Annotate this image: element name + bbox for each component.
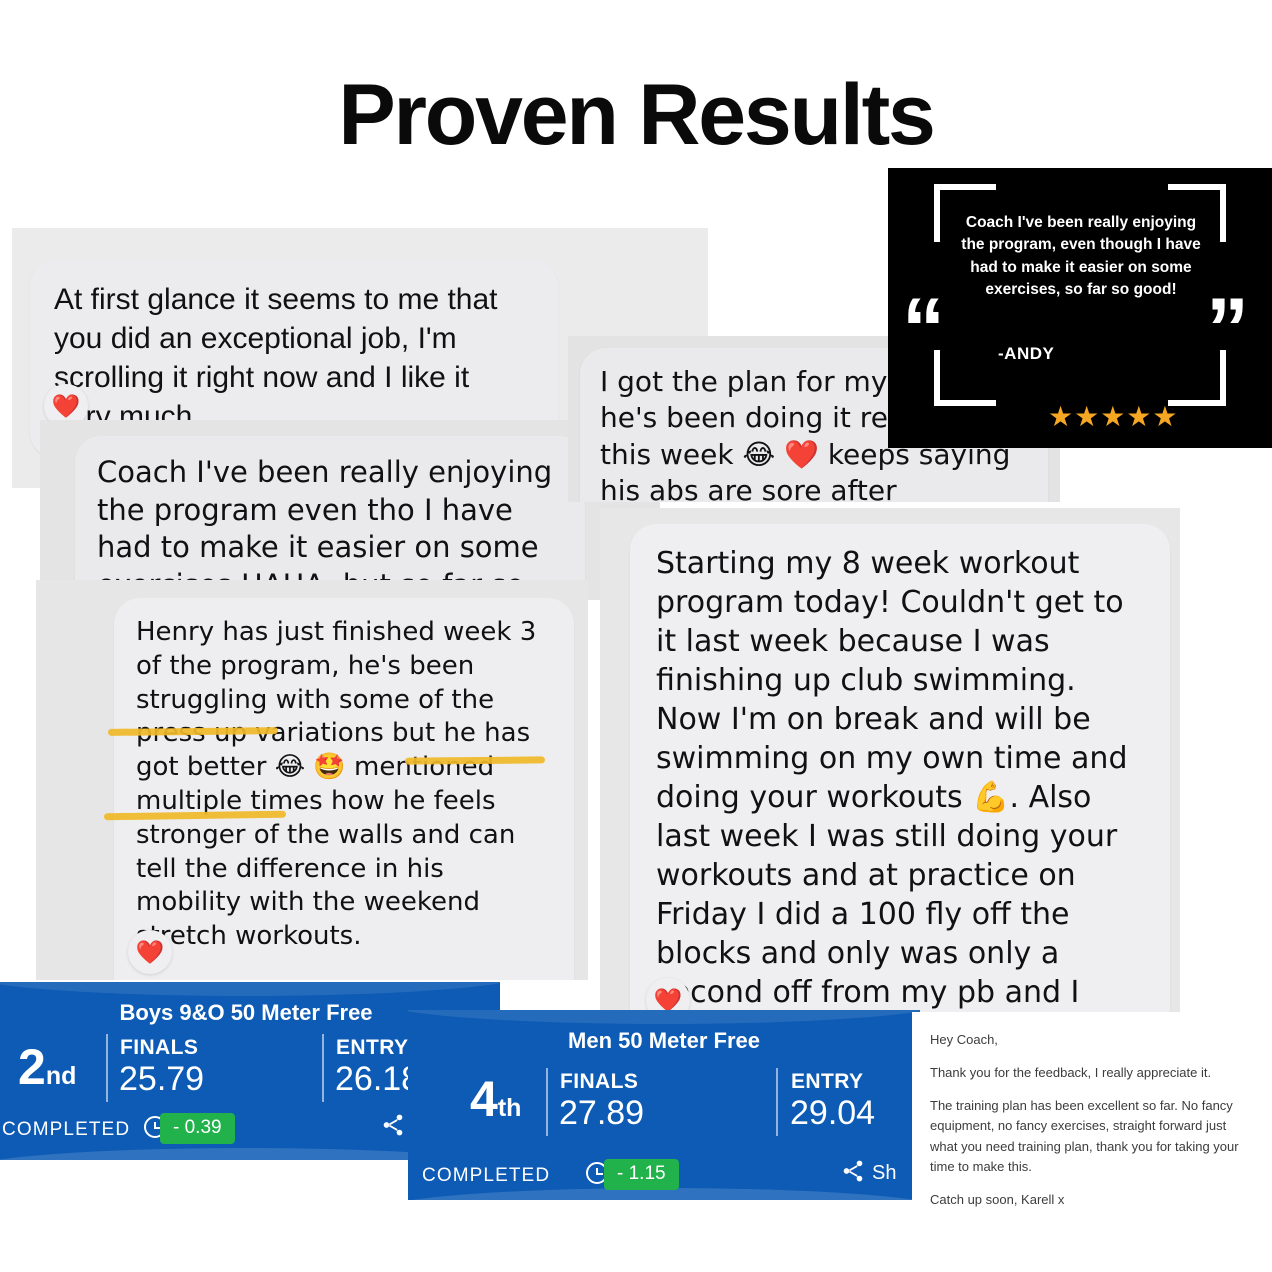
divider — [546, 1068, 548, 1136]
time-delta-badge: - 1.15 — [604, 1159, 679, 1190]
testimonial-screenshot-5: Starting my 8 week workout program today… — [600, 508, 1180, 1018]
finals-time: 25.79 — [119, 1060, 204, 1099]
swim-place-ordinal: th — [498, 1094, 522, 1122]
testimonial-screenshot-2: Coach I've been really enjoying the prog… — [40, 420, 660, 600]
email-paragraph-2: The training plan has been excellent so … — [930, 1096, 1252, 1177]
time-delta-badge: - 0.39 — [160, 1113, 235, 1144]
wave-decoration-top — [0, 982, 500, 996]
message-bubble-1-text: At first glance it seems to me that you … — [54, 280, 534, 436]
finals-label: FINALS — [120, 1036, 198, 1060]
divider — [106, 1034, 108, 1102]
highlighter-stroke — [405, 756, 545, 764]
message-bubble-2: Coach I've been really enjoying the prog… — [75, 436, 585, 600]
wave-decoration-top — [408, 1010, 920, 1024]
email-paragraph-1: Thank you for the feedback, I really app… — [930, 1063, 1252, 1083]
email-signoff: Catch up soon, Karell x — [930, 1190, 1252, 1210]
share-label[interactable]: Sh — [872, 1162, 896, 1185]
swim-place-ordinal: nd — [46, 1062, 77, 1090]
swim-place-number: 2 — [18, 1039, 46, 1095]
message-bubble-2-text: Coach I've been really enjoying the prog… — [97, 454, 563, 600]
swim-event-title: Men 50 Meter Free — [408, 1028, 920, 1054]
finals-label: FINALS — [560, 1070, 638, 1094]
divider — [776, 1068, 778, 1136]
entry-label: ENTRY — [791, 1070, 863, 1094]
swim-status: COMPLETED — [422, 1165, 550, 1187]
message-bubble-5: Starting my 8 week workout program today… — [630, 524, 1170, 1018]
divider — [322, 1034, 324, 1102]
frame-gap-top — [996, 178, 1168, 192]
star-rating-icon: ★★★★★ — [1048, 400, 1179, 433]
open-quote-icon: “ — [902, 286, 945, 372]
quote-text: Coach I've been really enjoying the prog… — [960, 212, 1202, 301]
close-quote-icon: ” — [1206, 286, 1249, 372]
swim-status: COMPLETED — [2, 1119, 130, 1141]
email-greeting: Hey Coach, — [930, 1030, 1252, 1050]
share-icon[interactable] — [840, 1158, 866, 1184]
proven-results-collage: Proven Results At first glance it seems … — [0, 0, 1272, 1272]
entry-time: 29.04 — [790, 1094, 875, 1133]
entry-label: ENTRY — [336, 1036, 408, 1060]
finals-time: 27.89 — [559, 1094, 644, 1133]
testimonial-screenshot-3: Henry has just finished week 3 of the pr… — [36, 580, 588, 980]
heart-reaction-icon: ❤️ — [128, 930, 172, 974]
message-bubble-5-text: Starting my 8 week workout program today… — [656, 544, 1144, 1018]
swim-place-number: 4 — [470, 1071, 498, 1127]
swim-place: 2nd — [18, 1042, 76, 1092]
page-title: Proven Results — [0, 66, 1272, 165]
share-icon[interactable] — [380, 1112, 406, 1138]
quote-author: -ANDY — [998, 344, 1054, 364]
message-bubble-3: Henry has just finished week 3 of the pr… — [114, 598, 574, 980]
email-screenshot: Hey Coach, Thank you for the feedback, I… — [912, 1012, 1272, 1212]
swim-result-card: Men 50 Meter Free 4th FINALS 27.89 ENTRY… — [408, 1010, 920, 1200]
swim-place: 4th — [470, 1074, 521, 1124]
message-bubble-3-paragraph-1: Henry has just finished week 3 of the pr… — [136, 616, 552, 954]
